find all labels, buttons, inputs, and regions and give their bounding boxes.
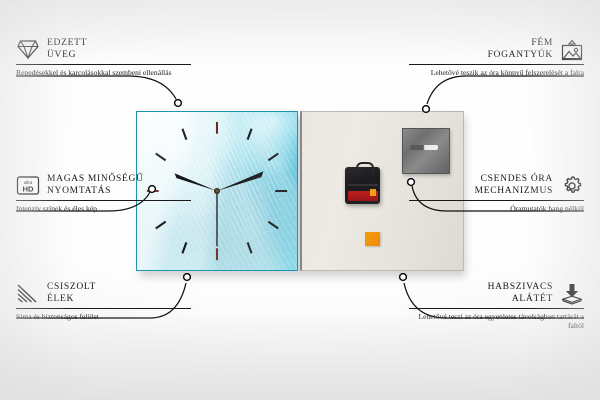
callout-tempered-glass: EDZETT ÜVEG Repedésekkel és karcolásokka… [16,38,191,77]
hanger-slot [410,145,438,150]
mechanism-seam [348,184,377,186]
callout-head: ultra HD MAGAS MINŐSÉGŰ NYOMTATÁS [16,174,191,197]
infographic-canvas: EDZETT ÜVEG Repedésekkel és karcolásokka… [0,0,600,400]
callout-title-line2: NYOMTATÁS [47,186,144,198]
callout-head: FÉM FOGANTYÚK [409,38,584,61]
ultra-hd-icon: ultra HD [16,175,40,197]
callout-title-block: CSENDES ÓRA MECHANIZMUS [475,174,553,197]
callout-divider [409,308,584,309]
callout-title-line1: CSISZOLT [47,282,96,294]
battery-compartment [348,191,379,201]
svg-text:HD: HD [23,184,34,193]
callout-description: Intenzív színek és éles kép [16,204,191,213]
beveled-edge-icon [16,283,40,305]
metal-hanger-part [402,128,450,174]
connector-metal-handles [427,76,584,104]
connector-tempered-glass [16,76,176,99]
callout-description: Lehetővé teszik az óra könnyű felszerelé… [409,68,584,77]
callout-title-line2: ÜVEG [47,50,87,62]
mechanism-loop [356,162,374,174]
callout-foam-backing: HABSZIVACS ALÁTÉT Lehetővé teszi az óra … [409,282,584,331]
callout-description: Repedésekkel és karcolásokkal szembeni e… [16,68,191,77]
callout-description: Óramutatók hang nélkül [409,204,584,213]
callout-title-block: CSISZOLT ÉLEK [47,282,96,305]
hanging-frame-icon [560,39,584,61]
callout-title-line2: ÉLEK [47,294,96,306]
callout-description: Sima és biztonságos felület [16,312,191,321]
callout-metal-handles: FÉM FOGANTYÚK Lehetővé teszik az óra kön… [409,38,584,77]
callout-polished-edges: CSISZOLT ÉLEK Sima és biztonságos felüle… [16,282,191,321]
callout-head: EDZETT ÜVEG [16,38,191,61]
callout-high-quality-print: ultra HD MAGAS MINŐSÉGŰ NYOMTATÁS Intenz… [16,174,191,213]
callout-title-line1: FÉM [488,38,553,50]
callout-title-block: HABSZIVACS ALÁTÉT [488,282,553,305]
callout-divider [409,200,584,201]
press-pad-icon [560,283,584,305]
callout-divider [16,64,191,65]
minute-hand [217,171,263,191]
callout-silent-mechanism: CSENDES ÓRA MECHANIZMUS Óramutatók hang … [409,174,584,213]
callout-head: CSISZOLT ÉLEK [16,282,191,305]
callout-title-block: EDZETT ÜVEG [47,38,87,61]
foam-pad-part [365,232,380,246]
callout-title-line2: MECHANIZMUS [475,186,553,198]
callout-title-line1: HABSZIVACS [488,282,553,294]
callout-title-block: MAGAS MINŐSÉGŰ NYOMTATÁS [47,174,144,197]
diamond-icon [16,39,40,61]
callout-title-line2: FOGANTYÚK [488,50,553,62]
callout-description: Lehetővé teszi az óra egyenletes távolsá… [409,312,584,331]
callout-head: CSENDES ÓRA MECHANIZMUS [409,174,584,197]
callout-title-line1: MAGAS MINŐSÉGŰ [47,174,144,186]
callout-title-line2: ALÁTÉT [488,294,553,306]
clock-mechanism-part [345,167,380,204]
callout-title-line1: CSENDES ÓRA [475,174,553,186]
callout-title-block: FÉM FOGANTYÚK [488,38,553,61]
callout-head: HABSZIVACS ALÁTÉT [409,282,584,305]
callout-divider [16,308,191,309]
gear-icon [560,175,584,197]
callout-divider [409,64,584,65]
callout-title-line1: EDZETT [47,38,87,50]
callout-divider [16,200,191,201]
